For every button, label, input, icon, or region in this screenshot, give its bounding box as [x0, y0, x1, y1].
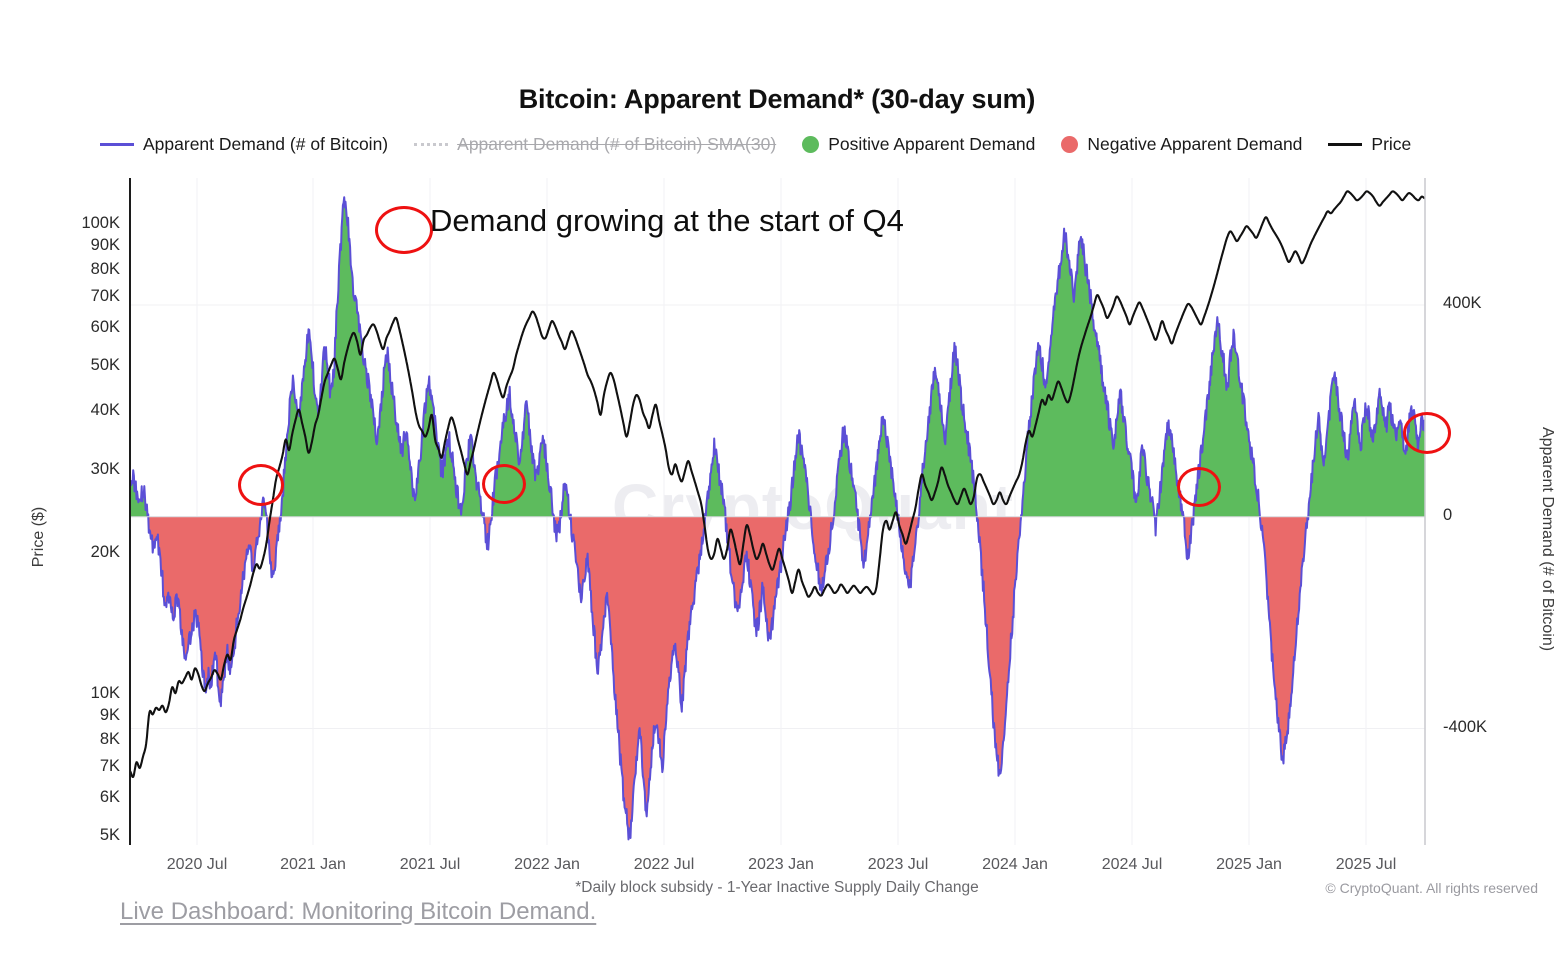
- legend-line-icon: [1328, 143, 1362, 146]
- y-tick-right: -400K: [1443, 718, 1523, 737]
- x-tick: 2022 Jul: [604, 856, 724, 874]
- legend-item-label: Positive Apparent Demand: [828, 134, 1035, 155]
- chart-title: Bitcoin: Apparent Demand* (30-day sum): [0, 84, 1554, 115]
- y-tick-left: 5K: [60, 826, 120, 845]
- y-tick-right: 0: [1443, 506, 1523, 525]
- marker-1-circle-icon: [238, 464, 284, 506]
- x-tick: 2024 Jan: [955, 856, 1075, 874]
- x-tick: 2021 Jul: [370, 856, 490, 874]
- legend-dot-icon: [802, 136, 819, 153]
- live-dashboard-link[interactable]: Live Dashboard: Monitoring Bitcoin Deman…: [120, 898, 596, 926]
- chart-legend: Apparent Demand (# of Bitcoin)Apparent D…: [100, 134, 1460, 155]
- y-tick-left: 8K: [60, 730, 120, 749]
- chart-footnote: *Daily block subsidy - 1-Year Inactive S…: [0, 879, 1554, 897]
- legend-item-label: Negative Apparent Demand: [1087, 134, 1302, 155]
- legend-line-icon: [100, 143, 134, 146]
- x-tick: 2025 Jul: [1306, 856, 1426, 874]
- copyright-notice: © CryptoQuant. All rights reserved: [1325, 880, 1538, 896]
- y-tick-left: 80K: [60, 260, 120, 279]
- x-tick: 2023 Jul: [838, 856, 958, 874]
- annotation-text: Demand growing at the start of Q4: [430, 203, 904, 239]
- watermark: CryptoQuant: [612, 470, 1014, 544]
- legend-item-2[interactable]: Positive Apparent Demand: [802, 134, 1035, 155]
- x-tick: 2025 Jan: [1189, 856, 1309, 874]
- marker-4-circle-icon: [1403, 412, 1451, 454]
- y-axis-right-label: Apparent Demand (# of Bitcoin): [1538, 424, 1554, 654]
- legend-item-3[interactable]: Negative Apparent Demand: [1061, 134, 1302, 155]
- x-tick: 2024 Jul: [1072, 856, 1192, 874]
- marker-3-circle-icon: [1177, 467, 1221, 507]
- marker-2-circle-icon: [482, 464, 526, 504]
- y-tick-left: 7K: [60, 757, 120, 776]
- x-tick: 2020 Jul: [137, 856, 257, 874]
- legend-dot-icon: [1061, 136, 1078, 153]
- y-tick-right: 400K: [1443, 294, 1523, 313]
- legend-item-1[interactable]: Apparent Demand (# of Bitcoin) SMA(30): [414, 134, 776, 155]
- y-tick-left: 40K: [60, 401, 120, 420]
- y-tick-left: 70K: [60, 287, 120, 306]
- y-tick-left: 60K: [60, 318, 120, 337]
- x-tick: 2023 Jan: [721, 856, 841, 874]
- legend-item-4[interactable]: Price: [1328, 134, 1411, 155]
- legend-item-label: Price: [1371, 134, 1411, 155]
- y-tick-left: 6K: [60, 788, 120, 807]
- legend-item-label: Apparent Demand (# of Bitcoin) SMA(30): [457, 134, 776, 155]
- legend-item-label: Apparent Demand (# of Bitcoin): [143, 134, 388, 155]
- y-tick-left: 90K: [60, 236, 120, 255]
- legend-item-0[interactable]: Apparent Demand (# of Bitcoin): [100, 134, 388, 155]
- x-tick: 2022 Jan: [487, 856, 607, 874]
- x-tick: 2021 Jan: [253, 856, 373, 874]
- y-tick-left: 30K: [60, 460, 120, 479]
- annotation-circle-icon: [375, 206, 433, 254]
- y-tick-left: 20K: [60, 543, 120, 562]
- y-tick-left: 100K: [60, 214, 120, 233]
- y-tick-left: 9K: [60, 706, 120, 725]
- y-axis-left-label: Price ($): [30, 482, 48, 592]
- legend-dashed-line-icon: [414, 143, 448, 146]
- y-tick-left: 10K: [60, 684, 120, 703]
- y-tick-left: 50K: [60, 356, 120, 375]
